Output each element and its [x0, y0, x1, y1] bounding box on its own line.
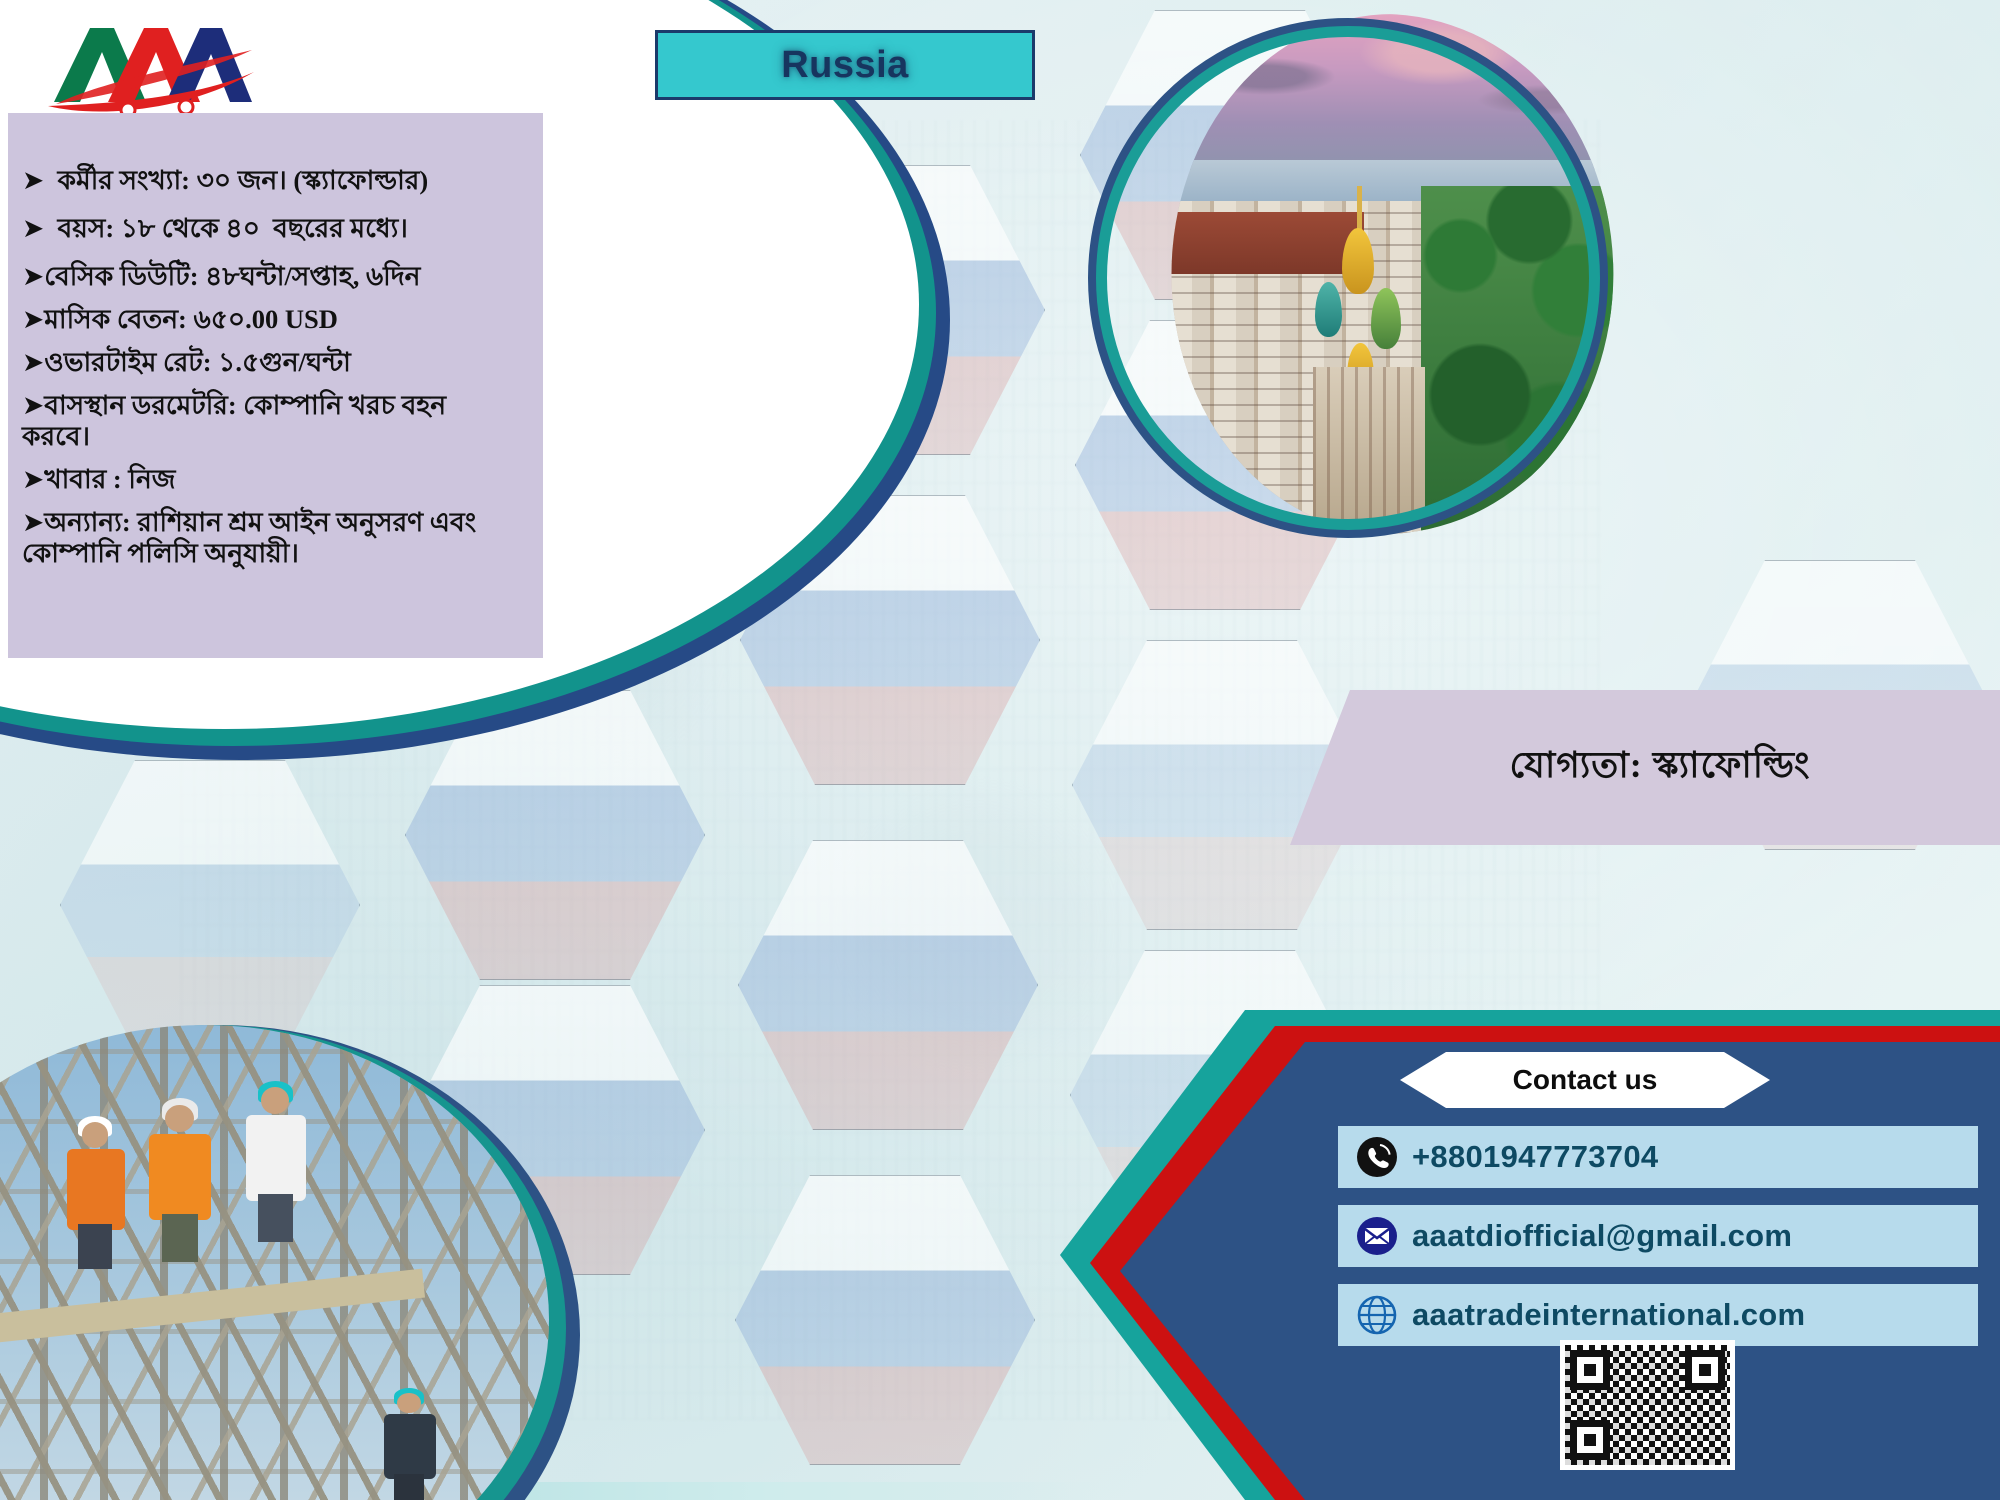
qr-code[interactable]: [1560, 1340, 1735, 1470]
aaa-logo-icon: [46, 6, 256, 126]
globe-icon: [1356, 1294, 1398, 1336]
detail-line-salary: ➤মাসিক বেতন: ৬৫০.00 USD: [22, 304, 529, 335]
page-title: Russia: [781, 44, 909, 87]
company-logo: [46, 6, 256, 126]
contact-heading-ribbon: Contact us: [1400, 1052, 1770, 1108]
detail-line-others: ➤অন্যান্য: রাশিয়ান শ্রম আইন অনুসরণ এবং ক…: [22, 507, 529, 569]
russia-photo-frame: [1088, 18, 1608, 538]
email-address: aaatdiofficial@gmail.com: [1412, 1218, 1792, 1254]
scaffold-photo-frame: [0, 1025, 580, 1500]
qualification-panel: যোগ্যতা: স্ক্যাফোল্ডিং: [1290, 690, 2000, 845]
detail-line-accommodation: ➤বাসস্থান ডরমেটরি: কোম্পানি খরচ বহন করবে…: [22, 390, 529, 452]
photo-ring-teal: [1096, 26, 1600, 530]
phone-icon: [1356, 1136, 1398, 1178]
contact-row-phone[interactable]: +8801947773704: [1338, 1126, 1978, 1188]
email-icon: [1356, 1215, 1398, 1257]
detail-line-workers: ➤ কর্মীর সংখ্যা: ৩০ জন। (স্ক্যাফোল্ডার): [22, 165, 529, 196]
contact-row-website[interactable]: aaatradeinternational.com: [1338, 1284, 1978, 1346]
detail-line-overtime: ➤ওভারটাইম রেট: ১.৫গুন/ঘন্টা: [22, 347, 529, 378]
country-title-banner: Russia: [655, 30, 1035, 100]
poster-canvas: Russia ➤ কর্মীর সংখ্যা: ৩০ জন। (স্ক্যাফো…: [0, 0, 2000, 1500]
website-url: aaatradeinternational.com: [1412, 1297, 1805, 1333]
contact-row-email[interactable]: aaatdiofficial@gmail.com: [1338, 1205, 1978, 1267]
detail-line-duty: ➤বেসিক ডিউটি: ৪৮ঘন্টা/সপ্তাহ, ৬দিন: [22, 261, 529, 292]
job-details-panel: ➤ কর্মীর সংখ্যা: ৩০ জন। (স্ক্যাফোল্ডার) …: [8, 113, 543, 658]
scaffolding-workers-photo: [0, 1025, 549, 1500]
detail-line-age: ➤ বয়স: ১৮ থেকে ৪০ বছরের মধ্যে।: [22, 213, 529, 244]
qualification-text: যোগ্যতা: স্ক্যাফোল্ডিং: [1479, 738, 1810, 798]
contact-heading-label: Contact us: [1513, 1064, 1658, 1096]
detail-line-food: ➤খাবার : নিজ: [22, 464, 529, 495]
phone-number: +8801947773704: [1412, 1139, 1658, 1175]
